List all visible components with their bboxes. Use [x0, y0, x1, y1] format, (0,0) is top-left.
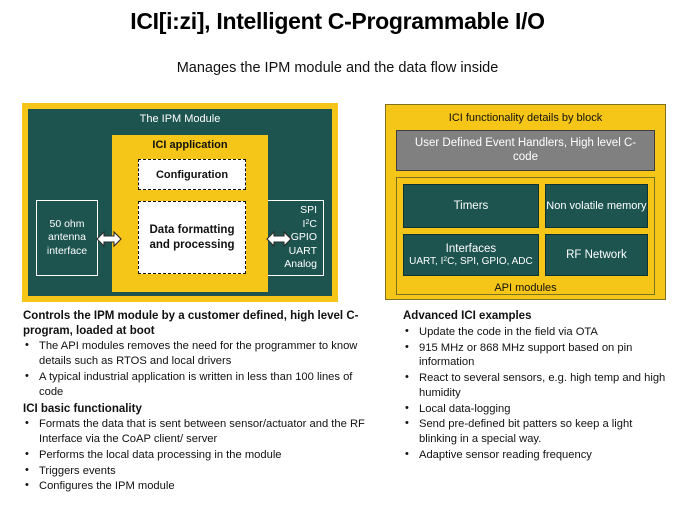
io-line-spi: SPI [300, 204, 317, 217]
timers-block: Timers [403, 184, 539, 228]
non-volatile-memory-block: Non volatile memory [545, 184, 648, 228]
io-line-analog: Analog [284, 258, 317, 271]
left-text-column: Controls the IPM module by a customer de… [23, 309, 373, 496]
left-bullet-list-1: The API modules removes the need for the… [23, 339, 373, 399]
right-heading: Advanced ICI examples [403, 309, 671, 324]
left-heading-1: Controls the IPM module by a customer de… [23, 309, 373, 338]
ici-application-title: ICI application [112, 139, 268, 151]
list-item: 915 MHz or 868 MHz support based on pin … [403, 341, 671, 371]
list-item: Triggers events [23, 464, 373, 479]
page-title: ICI[i:zi], Intelligent C-Programmable I/… [0, 8, 675, 35]
io-line-gpio: GPIO [291, 231, 317, 244]
left-heading-2: ICI basic functionality [23, 402, 373, 417]
left-bullet-list-2: Formats the data that is sent between se… [23, 417, 373, 494]
list-item: Performs the local data processing in th… [23, 448, 373, 463]
list-item: Send pre-defined bit patters so keep a l… [403, 417, 671, 447]
api-row-top: Timers Non volatile memory [403, 184, 648, 228]
interfaces-list: UART, I2C, SPI, GPIO, ADC [409, 256, 533, 268]
rf-network-block: RF Network [545, 234, 648, 276]
list-item: A typical industrial application is writ… [23, 370, 373, 400]
list-item: Adaptive sensor reading frequency [403, 448, 671, 463]
interfaces-title: Interfaces [446, 243, 497, 255]
right-bullet-list: Update the code in the field via OTA 915… [403, 325, 671, 463]
antenna-interface-block: 50 ohm antenna interface [36, 200, 98, 276]
double-headed-arrow-icon [266, 228, 292, 250]
api-modules-frame: Timers Non volatile memory Interfaces UA… [396, 177, 655, 295]
data-formatting-block: Data formatting and processing [138, 201, 246, 274]
user-defined-handlers-block: User Defined Event Handlers, High level … [396, 130, 655, 171]
io-line-i2c: I2C [303, 218, 317, 231]
configuration-block: Configuration [138, 159, 246, 190]
list-item: Configures the IPM module [23, 479, 373, 494]
api-modules-label: API modules [403, 282, 648, 294]
interfaces-block: Interfaces UART, I2C, SPI, GPIO, ADC [403, 234, 539, 276]
ici-functionality-diagram: ICI functionality details by block User … [385, 104, 666, 300]
ipm-module-title: The IPM Module [28, 113, 332, 125]
api-row-bottom: Interfaces UART, I2C, SPI, GPIO, ADC RF … [403, 234, 648, 276]
list-item: The API modules removes the need for the… [23, 339, 373, 369]
double-headed-arrow-icon [96, 228, 122, 250]
io-line-uart: UART [289, 245, 317, 258]
list-item: Formats the data that is sent between se… [23, 417, 373, 447]
ici-functionality-title: ICI functionality details by block [396, 112, 655, 124]
list-item: Update the code in the field via OTA [403, 325, 671, 340]
list-item: Local data-logging [403, 402, 671, 417]
list-item: React to several sensors, e.g. high temp… [403, 371, 671, 401]
ici-application-block: ICI application Configuration Data forma… [112, 135, 268, 292]
right-text-column: Advanced ICI examples Update the code in… [403, 309, 671, 465]
ipm-module-diagram: The IPM Module 50 ohm antenna interface … [22, 103, 338, 302]
page-subtitle: Manages the IPM module and the data flow… [0, 60, 675, 76]
ipm-module-container: The IPM Module 50 ohm antenna interface … [28, 109, 332, 296]
